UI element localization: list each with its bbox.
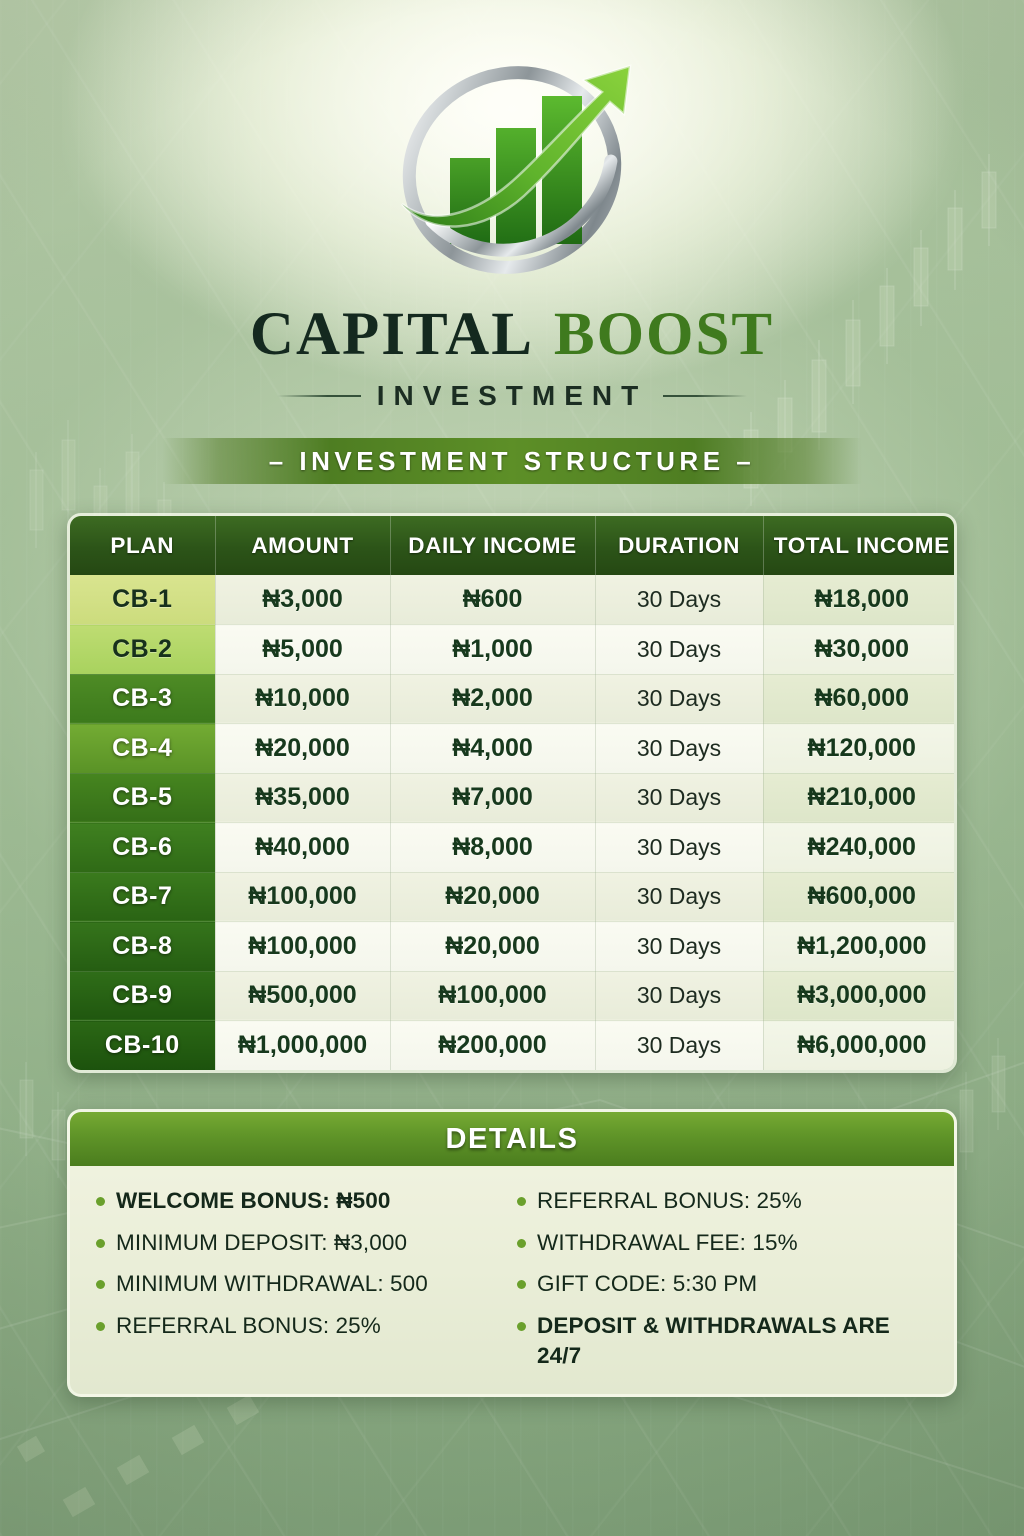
cell-duration: 30 Days <box>595 872 763 922</box>
list-item: GIFT CODE: 5:30 PM <box>517 1269 928 1299</box>
cell-daily-income: ₦1,000 <box>390 625 595 675</box>
investment-structure-banner: – INVESTMENT STRUCTURE – <box>162 438 862 484</box>
bullet-icon <box>96 1322 105 1331</box>
cell-amount: ₦3,000 <box>215 575 390 625</box>
plans-table-header-row: PLAN AMOUNT DAILY INCOME DURATION TOTAL … <box>70 516 957 575</box>
cell-plan: CB-7 <box>70 872 215 922</box>
detail-welcome-bonus: WELCOME BONUS: ₦500 <box>116 1186 390 1216</box>
list-item: REFERRAL BONUS: 25% <box>517 1186 928 1216</box>
cell-total-income: ₦18,000 <box>763 575 957 625</box>
table-row: CB-7 ₦100,000 ₦20,000 30 Days ₦600,000 <box>70 872 957 922</box>
column-header-duration: DURATION <box>595 516 763 575</box>
cell-duration: 30 Days <box>595 773 763 823</box>
cell-amount: ₦5,000 <box>215 625 390 675</box>
detail-minimum-withdrawal: MINIMUM WITHDRAWAL: 500 <box>116 1269 428 1299</box>
list-item: MINIMUM DEPOSIT: ₦3,000 <box>96 1228 507 1258</box>
poster-root: CAPITAL BOOST INVESTMENT – INVESTMENT ST… <box>0 0 1024 1536</box>
cell-duration: 30 Days <box>595 823 763 873</box>
details-card: DETAILS WELCOME BONUS: ₦500 REFERRAL BON… <box>67 1109 957 1397</box>
brand-subtitle-row: INVESTMENT <box>277 380 747 412</box>
list-item: WELCOME BONUS: ₦500 <box>96 1186 507 1216</box>
table-row: CB-3 ₦10,000 ₦2,000 30 Days ₦60,000 <box>70 674 957 724</box>
brand-word-capital: CAPITAL <box>250 300 534 370</box>
investment-structure-banner-label: – INVESTMENT STRUCTURE – <box>269 446 756 477</box>
table-row: CB-8 ₦100,000 ₦20,000 30 Days ₦1,200,000 <box>70 922 957 972</box>
bullet-icon <box>96 1280 105 1289</box>
cell-daily-income: ₦4,000 <box>390 724 595 774</box>
brand-rule-right <box>663 395 747 397</box>
cell-daily-income: ₦7,000 <box>390 773 595 823</box>
details-header: DETAILS <box>70 1112 954 1166</box>
details-title: DETAILS <box>445 1123 578 1156</box>
bullet-icon <box>517 1322 526 1331</box>
table-row: CB-9 ₦500,000 ₦100,000 30 Days ₦3,000,00… <box>70 971 957 1021</box>
cell-total-income: ₦30,000 <box>763 625 957 675</box>
cell-plan: CB-10 <box>70 1021 215 1071</box>
list-item: REFERRAL BONUS: 25% <box>96 1311 507 1370</box>
cell-plan: CB-5 <box>70 773 215 823</box>
detail-withdrawal-fee: WITHDRAWAL FEE: 15% <box>537 1228 798 1258</box>
column-header-amount: AMOUNT <box>215 516 390 575</box>
bullet-icon <box>517 1239 526 1248</box>
table-row: CB-4 ₦20,000 ₦4,000 30 Days ₦120,000 <box>70 724 957 774</box>
cell-plan: CB-8 <box>70 922 215 972</box>
cell-daily-income: ₦20,000 <box>390 872 595 922</box>
cell-daily-income: ₦8,000 <box>390 823 595 873</box>
cell-amount: ₦100,000 <box>215 872 390 922</box>
detail-deposit-withdrawals-247: DEPOSIT & WITHDRAWALS ARE 24/7 <box>537 1311 928 1370</box>
plans-table-card: PLAN AMOUNT DAILY INCOME DURATION TOTAL … <box>67 513 957 1073</box>
table-row: CB-5 ₦35,000 ₦7,000 30 Days ₦210,000 <box>70 773 957 823</box>
cell-total-income: ₦60,000 <box>763 674 957 724</box>
cell-duration: 30 Days <box>595 575 763 625</box>
detail-gift-code: GIFT CODE: 5:30 PM <box>537 1269 757 1299</box>
brand-title: CAPITAL BOOST <box>250 300 774 370</box>
cell-total-income: ₦240,000 <box>763 823 957 873</box>
brand-header: CAPITAL BOOST INVESTMENT <box>0 0 1024 412</box>
column-header-total-income: TOTAL INCOME <box>763 516 957 575</box>
cell-amount: ₦500,000 <box>215 971 390 1021</box>
cell-daily-income: ₦200,000 <box>390 1021 595 1071</box>
bullet-icon <box>517 1197 526 1206</box>
table-row: CB-1 ₦3,000 ₦600 30 Days ₦18,000 <box>70 575 957 625</box>
cell-amount: ₦10,000 <box>215 674 390 724</box>
brand-subtitle: INVESTMENT <box>377 380 647 412</box>
list-item: DEPOSIT & WITHDRAWALS ARE 24/7 <box>517 1311 928 1370</box>
cell-amount: ₦20,000 <box>215 724 390 774</box>
cell-duration: 30 Days <box>595 625 763 675</box>
detail-referral-bonus-left: REFERRAL BONUS: 25% <box>116 1311 381 1341</box>
table-row: CB-6 ₦40,000 ₦8,000 30 Days ₦240,000 <box>70 823 957 873</box>
cell-duration: 30 Days <box>595 674 763 724</box>
brand-rule-left <box>277 395 361 397</box>
plans-table-body: CB-1 ₦3,000 ₦600 30 Days ₦18,000 CB-2 ₦5… <box>70 575 957 1070</box>
cell-total-income: ₦120,000 <box>763 724 957 774</box>
list-item: WITHDRAWAL FEE: 15% <box>517 1228 928 1258</box>
cell-plan: CB-1 <box>70 575 215 625</box>
cell-duration: 30 Days <box>595 1021 763 1071</box>
growth-bar-chart-arrow-globe-icon <box>378 52 646 288</box>
bullet-icon <box>517 1280 526 1289</box>
cell-total-income: ₦210,000 <box>763 773 957 823</box>
plans-table: PLAN AMOUNT DAILY INCOME DURATION TOTAL … <box>70 516 957 1070</box>
cell-plan: CB-6 <box>70 823 215 873</box>
cell-plan: CB-9 <box>70 971 215 1021</box>
cell-plan: CB-2 <box>70 625 215 675</box>
detail-referral-bonus-right: REFERRAL BONUS: 25% <box>537 1186 802 1216</box>
table-row: CB-2 ₦5,000 ₦1,000 30 Days ₦30,000 <box>70 625 957 675</box>
cell-daily-income: ₦100,000 <box>390 971 595 1021</box>
table-row: CB-10 ₦1,000,000 ₦200,000 30 Days ₦6,000… <box>70 1021 957 1071</box>
cell-amount: ₦35,000 <box>215 773 390 823</box>
cell-total-income: ₦6,000,000 <box>763 1021 957 1071</box>
brand-word-boost: BOOST <box>554 300 774 370</box>
cell-plan: CB-3 <box>70 674 215 724</box>
cell-duration: 30 Days <box>595 922 763 972</box>
cell-daily-income: ₦20,000 <box>390 922 595 972</box>
cell-total-income: ₦3,000,000 <box>763 971 957 1021</box>
bullet-icon <box>96 1197 105 1206</box>
cell-daily-income: ₦600 <box>390 575 595 625</box>
cell-amount: ₦1,000,000 <box>215 1021 390 1071</box>
details-body: WELCOME BONUS: ₦500 REFERRAL BONUS: 25% … <box>70 1166 954 1394</box>
cell-daily-income: ₦2,000 <box>390 674 595 724</box>
cell-total-income: ₦1,200,000 <box>763 922 957 972</box>
detail-minimum-deposit: MINIMUM DEPOSIT: ₦3,000 <box>116 1228 407 1258</box>
cell-duration: 30 Days <box>595 971 763 1021</box>
bullet-icon <box>96 1239 105 1248</box>
column-header-daily-income: DAILY INCOME <box>390 516 595 575</box>
cell-amount: ₦100,000 <box>215 922 390 972</box>
list-item: MINIMUM WITHDRAWAL: 500 <box>96 1269 507 1299</box>
cell-plan: CB-4 <box>70 724 215 774</box>
column-header-plan: PLAN <box>70 516 215 575</box>
cell-total-income: ₦600,000 <box>763 872 957 922</box>
cell-amount: ₦40,000 <box>215 823 390 873</box>
cell-duration: 30 Days <box>595 724 763 774</box>
